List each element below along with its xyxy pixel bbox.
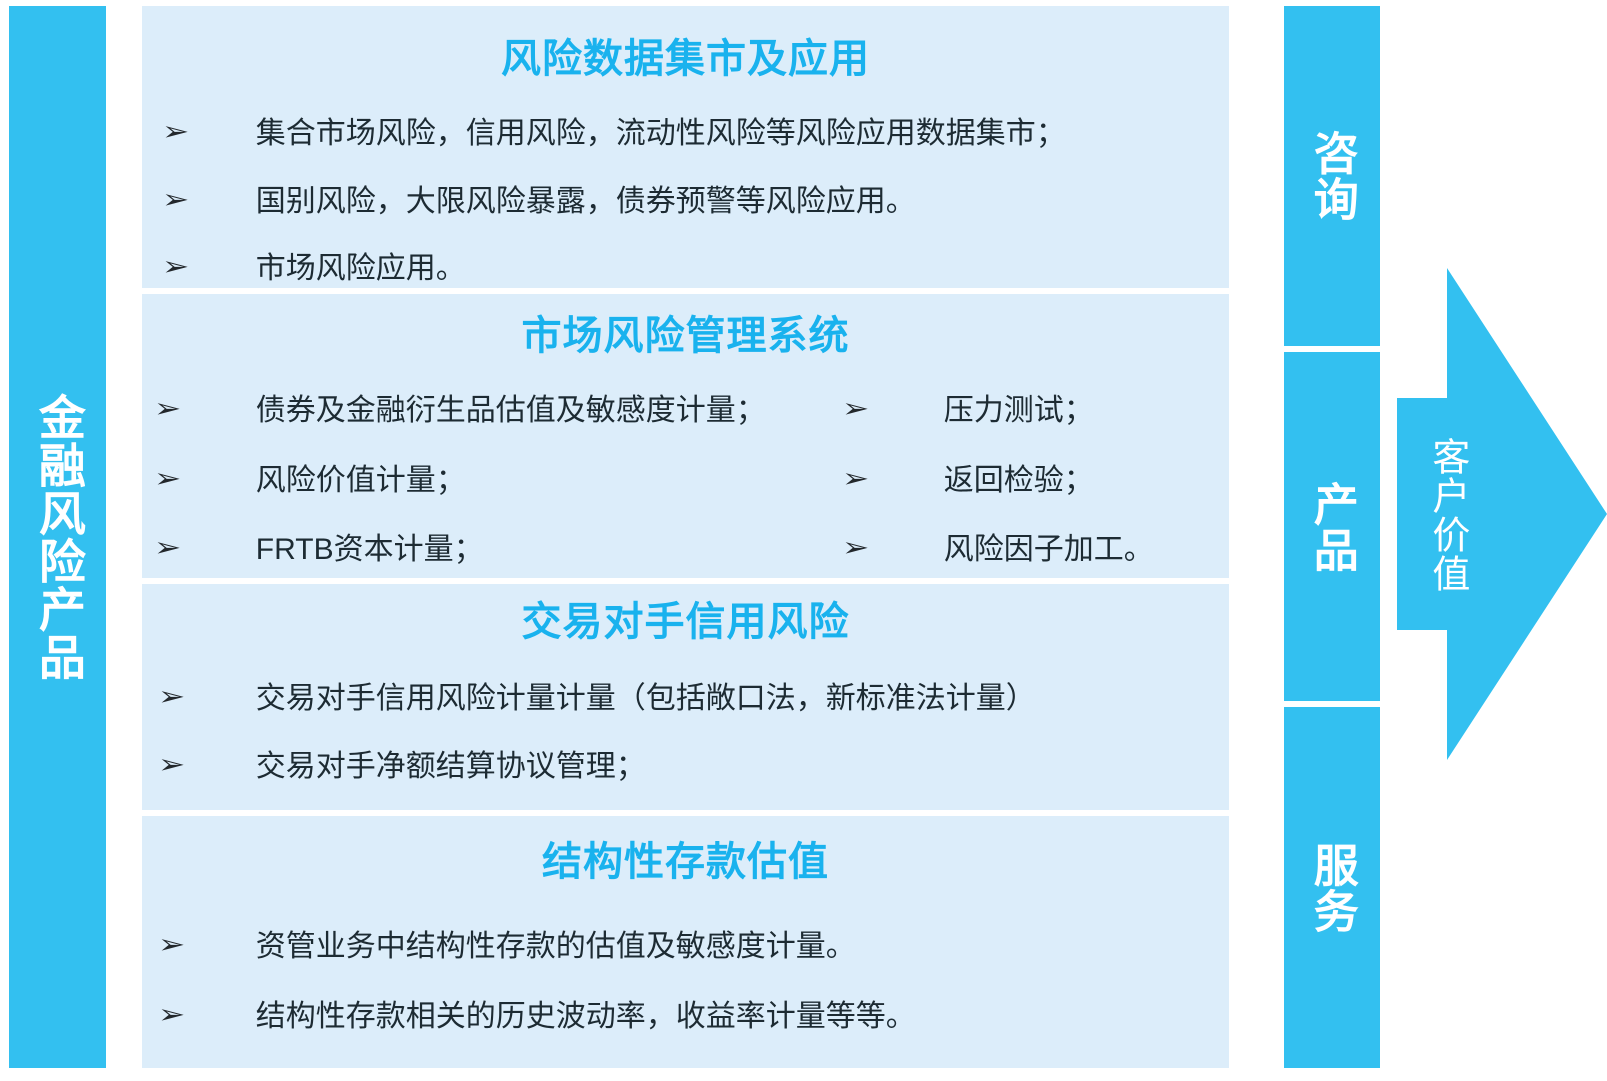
bullet-list: ➢ 资管业务中结构性存款的估值及敏感度计量。 ➢ 结构性存款相关的历史波动率，收… <box>142 928 1229 1035</box>
arrow-bullet-icon: ➢ <box>842 392 869 426</box>
list-item: ➢ 债券及金融衍生品估值及敏感度计量； <box>142 392 842 430</box>
list-item: ➢ 交易对手净额结算协议管理； <box>142 748 1229 786</box>
stage-cell-label: 服务 <box>1307 842 1357 934</box>
arrow-bullet-icon: ➢ <box>158 748 185 782</box>
panel-title: 结构性存款估值 <box>142 842 1229 882</box>
list-item-text: 集合市场风险，信用风险，流动性风险等风险应用数据集市； <box>256 115 1066 153</box>
stage-cell-consulting: 咨询 <box>1284 6 1380 346</box>
list-item: ➢ FRTB资本计量； <box>142 531 842 569</box>
list-item-text: 返回检验； <box>944 462 1094 500</box>
arrow-bullet-icon: ➢ <box>154 531 181 565</box>
bullet-columns: ➢ 债券及金融衍生品估值及敏感度计量； ➢ 风险价值计量； ➢ FRTB资本计量… <box>142 392 1229 578</box>
arrow-bullet-icon: ➢ <box>842 531 869 565</box>
panel-stack: 风险数据集市及应用 ➢ 集合市场风险，信用风险，流动性风险等风险应用数据集市； … <box>142 6 1229 1068</box>
bullet-list-right: ➢ 压力测试； ➢ 返回检验； ➢ 风险因子加工。 <box>842 392 1222 578</box>
diagram-canvas: 金融风险产品 风险数据集市及应用 ➢ 集合市场风险，信用风险，流动性风险等风险应… <box>0 0 1607 1081</box>
list-item: ➢ 风险因子加工。 <box>842 531 1222 569</box>
arrow-bullet-icon: ➢ <box>162 115 189 149</box>
list-item-text: 市场风险应用。 <box>256 250 466 288</box>
arrow-bullet-icon: ➢ <box>154 462 181 496</box>
arrow-bullet-icon: ➢ <box>154 392 181 426</box>
arrow-bullet-icon: ➢ <box>162 250 189 284</box>
customer-value-label: 客户价值 <box>1403 380 1489 650</box>
list-item-text: 交易对手信用风险计量计量（包括敞口法，新标准法计量） <box>256 680 1036 718</box>
arrow-bullet-icon: ➢ <box>162 183 189 217</box>
stage-cell-product: 产品 <box>1284 352 1380 701</box>
list-item-text: 压力测试； <box>944 392 1094 430</box>
list-item-text: FRTB资本计量； <box>256 531 484 569</box>
list-item-text: 债券及金融衍生品估值及敏感度计量； <box>256 392 766 430</box>
panel-title: 市场风险管理系统 <box>142 316 1229 356</box>
panel-market-risk-system: 市场风险管理系统 ➢ 债券及金融衍生品估值及敏感度计量； ➢ 风险价值计量； ➢… <box>142 294 1229 578</box>
list-item: ➢ 市场风险应用。 <box>142 250 1229 288</box>
bullet-list: ➢ 交易对手信用风险计量计量（包括敞口法，新标准法计量） ➢ 交易对手净额结算协… <box>142 680 1229 785</box>
list-item: ➢ 压力测试； <box>842 392 1222 430</box>
list-item: ➢ 交易对手信用风险计量计量（包括敞口法，新标准法计量） <box>142 680 1229 718</box>
stage-cell-label: 产品 <box>1307 481 1357 573</box>
arrow-bullet-icon: ➢ <box>842 462 869 496</box>
left-category-label: 金融风险产品 <box>9 6 106 1068</box>
list-item: ➢ 资管业务中结构性存款的估值及敏感度计量。 <box>142 928 1229 966</box>
customer-value-arrow: 客户价值 <box>1385 268 1607 760</box>
bullet-list: ➢ 集合市场风险，信用风险，流动性风险等风险应用数据集市； ➢ 国别风险，大限风… <box>142 115 1229 288</box>
left-category-bar: 金融风险产品 <box>9 6 106 1068</box>
list-item-text: 国别风险，大限风险暴露，债券预警等风险应用。 <box>256 183 916 221</box>
panel-title: 风险数据集市及应用 <box>142 39 1229 79</box>
list-item-text: 资管业务中结构性存款的估值及敏感度计量。 <box>256 928 856 966</box>
panel-counterparty-credit-risk: 交易对手信用风险 ➢ 交易对手信用风险计量计量（包括敞口法，新标准法计量） ➢ … <box>142 584 1229 810</box>
panel-risk-data-mart: 风险数据集市及应用 ➢ 集合市场风险，信用风险，流动性风险等风险应用数据集市； … <box>142 6 1229 288</box>
arrow-bullet-icon: ➢ <box>158 998 185 1032</box>
list-item: ➢ 集合市场风险，信用风险，流动性风险等风险应用数据集市； <box>142 115 1229 153</box>
arrow-bullet-icon: ➢ <box>158 928 185 962</box>
stage-cell-label: 咨询 <box>1307 130 1357 222</box>
list-item-text: 风险因子加工。 <box>944 531 1154 569</box>
list-item: ➢ 国别风险，大限风险暴露，债券预警等风险应用。 <box>142 183 1229 221</box>
list-item: ➢ 风险价值计量； <box>142 462 842 500</box>
list-item-text: 结构性存款相关的历史波动率，收益率计量等等。 <box>256 998 916 1036</box>
bullet-list-left: ➢ 债券及金融衍生品估值及敏感度计量； ➢ 风险价值计量； ➢ FRTB资本计量… <box>142 392 842 578</box>
service-stage-column: 咨询 产品 服务 <box>1284 6 1380 1068</box>
list-item: ➢ 结构性存款相关的历史波动率，收益率计量等等。 <box>142 998 1229 1036</box>
list-item-text: 风险价值计量； <box>256 462 466 500</box>
panel-structured-deposit-valuation: 结构性存款估值 ➢ 资管业务中结构性存款的估值及敏感度计量。 ➢ 结构性存款相关… <box>142 816 1229 1068</box>
stage-cell-service: 服务 <box>1284 707 1380 1068</box>
panel-title: 交易对手信用风险 <box>142 602 1229 642</box>
arrow-bullet-icon: ➢ <box>158 680 185 714</box>
list-item: ➢ 返回检验； <box>842 462 1222 500</box>
list-item-text: 交易对手净额结算协议管理； <box>256 748 646 786</box>
